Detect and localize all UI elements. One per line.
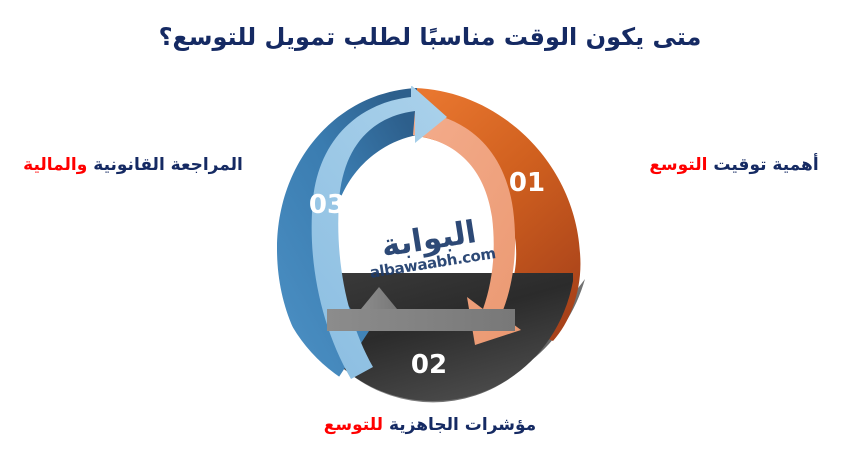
segment-label-03-red: والمالية [23, 155, 87, 175]
page-title: متى يكون الوقت مناسبًا لطلب تمويل للتوسع… [0, 22, 860, 52]
segment-label-02: مؤشرات الجاهزية للتوسع [0, 415, 860, 435]
segment-label-03-navy: المراجعة القانونية [93, 155, 243, 175]
segment-number-03: 03 [309, 190, 345, 220]
segment-label-03: المراجعة القانونية والمالية [4, 155, 262, 175]
segment-number-02: 02 [411, 350, 447, 380]
segment-label-02-navy: مؤشرات الجاهزية [389, 415, 536, 435]
cycle-diagram: 01 02 03 [265, 83, 595, 413]
infographic-canvas: متى يكون الوقت مناسبًا لطلب تمويل للتوسع… [0, 0, 860, 459]
segment-label-01: أهمية توقيت التوسع [612, 155, 856, 175]
segment-label-01-navy: أهمية توقيت [713, 155, 818, 175]
segment-number-01: 01 [509, 168, 545, 198]
ribbon-arrow-gray [327, 309, 515, 331]
segment-label-01-red: التوسع [649, 155, 707, 175]
segment-label-02-red: للتوسع [324, 415, 383, 435]
